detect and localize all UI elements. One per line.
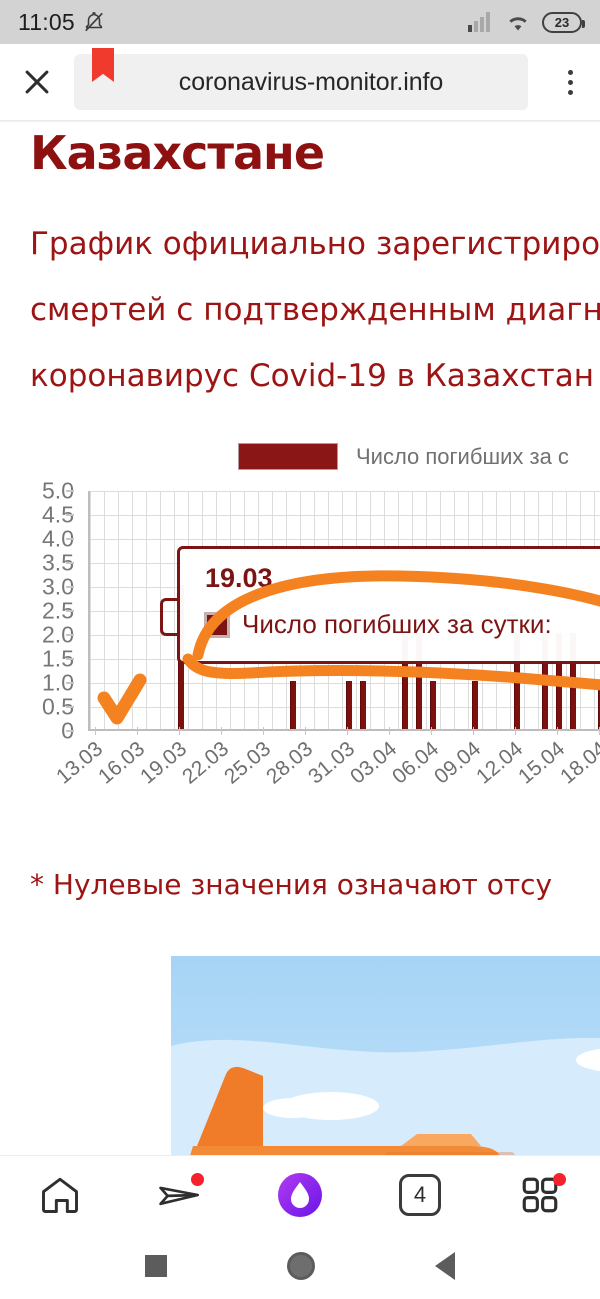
- y-tick-mark: [66, 586, 74, 588]
- x-tick-mark: [515, 727, 516, 735]
- status-bar-left: 11:05: [18, 9, 105, 36]
- x-tick-mark: [473, 727, 474, 735]
- page-paragraph: График официально зарегистриро смертей с…: [30, 211, 600, 409]
- y-tick-mark: [66, 538, 74, 540]
- home-circle-icon[interactable]: [287, 1252, 315, 1280]
- x-tick-label: 03.04: [346, 737, 402, 789]
- y-tick-mark: [66, 562, 74, 564]
- status-bar: 11:05: [0, 0, 600, 44]
- y-tick-mark: [66, 658, 74, 660]
- tab-switcher-icon: 4: [399, 1174, 441, 1216]
- paragraph-line-1: График официально зарегистриро: [30, 211, 600, 277]
- screen-root: 11:05: [0, 0, 600, 1299]
- web-page-content: Казахстане График официально зарегистрир…: [0, 123, 600, 1143]
- tooltip-date: 19.03: [205, 563, 273, 594]
- battery-indicator: 23: [542, 12, 582, 33]
- x-tick-label: 18.04: [556, 737, 600, 789]
- x-tick-label: 15.04: [514, 737, 570, 789]
- tab-count-label: 4: [414, 1182, 426, 1208]
- y-tick-mark: [66, 610, 74, 612]
- chart-x-axis: 13.0316.0319.0322.0325.0328.0331.0303.04…: [88, 735, 600, 835]
- cellular-signal-icon: [468, 12, 494, 32]
- status-clock: 11:05: [18, 9, 75, 36]
- nav-assistant-button[interactable]: [260, 1165, 340, 1225]
- tooltip-series-label: Число погибших за сутки:: [242, 609, 552, 640]
- x-tick-mark: [221, 727, 222, 735]
- share-badge: [191, 1173, 204, 1186]
- nav-share-button[interactable]: [140, 1165, 220, 1225]
- y-tick-mark: [66, 514, 74, 516]
- x-tick-label: 25.03: [220, 737, 276, 789]
- ad-banner[interactable]: [171, 956, 600, 1186]
- nav-home-button[interactable]: [20, 1165, 100, 1225]
- legend-label: Число погибших за с: [356, 444, 569, 470]
- tooltip-swatch-icon: [204, 612, 230, 638]
- wifi-icon: [505, 12, 531, 32]
- x-tick-mark: [557, 727, 558, 735]
- home-icon: [38, 1173, 82, 1217]
- chart-bar[interactable]: [430, 681, 436, 729]
- chart-bar[interactable]: [472, 681, 478, 729]
- x-tick-mark: [95, 727, 96, 735]
- alice-assistant-icon: [273, 1168, 327, 1222]
- chart-tooltip: 19.03 Число погибших за сутки:: [177, 546, 600, 664]
- x-tick-label: 22.03: [178, 737, 234, 789]
- nav-apps-button[interactable]: [500, 1165, 580, 1225]
- x-tick-mark: [347, 727, 348, 735]
- page-title: Казахстане: [30, 126, 324, 180]
- x-tick-mark: [263, 727, 264, 735]
- x-tick-label: 16.03: [94, 737, 150, 789]
- tooltip-series-row: Число погибших за сутки:: [204, 609, 552, 640]
- x-tick-mark: [179, 727, 180, 735]
- paragraph-line-3: коронавирус Covid-19 в Казахстан: [30, 343, 600, 409]
- bell-muted-icon: [83, 11, 105, 33]
- close-tab-button[interactable]: [0, 65, 74, 99]
- page-footnote: * Нулевые значения означают отсу: [30, 868, 600, 901]
- chart-bar[interactable]: [346, 681, 352, 729]
- overflow-menu-button[interactable]: [540, 70, 600, 95]
- x-tick-mark: [137, 727, 138, 735]
- legend-swatch: [238, 443, 338, 470]
- paragraph-line-2: смертей с подтвержденным диагн: [30, 277, 600, 343]
- chart-bar[interactable]: [360, 681, 366, 729]
- x-tick-label: 28.03: [262, 737, 318, 789]
- y-tick-mark: [66, 730, 74, 732]
- browser-toolbar: coronavirus-monitor.info: [0, 44, 600, 120]
- recents-square-icon[interactable]: [145, 1255, 167, 1277]
- back-triangle-icon[interactable]: [435, 1252, 455, 1280]
- x-tick-mark: [431, 727, 432, 735]
- y-tick-mark: [66, 634, 74, 636]
- url-text: coronavirus-monitor.info: [74, 68, 528, 97]
- y-tick-mark: [66, 490, 74, 492]
- overflow-menu-icon: [568, 70, 573, 95]
- x-tick-label: 12.04: [472, 737, 528, 789]
- deaths-bar-chart[interactable]: Число погибших за с 00.51.01.52.02.53.03…: [0, 443, 600, 843]
- status-bar-right: 23: [468, 12, 582, 33]
- y-tick-mark: [66, 706, 74, 708]
- chart-legend: Число погибших за с: [238, 443, 569, 470]
- address-bar[interactable]: coronavirus-monitor.info: [74, 54, 528, 110]
- y-tick-mark: [66, 682, 74, 684]
- airplane-ad-illustration: [171, 956, 600, 1186]
- x-tick-mark: [305, 727, 306, 735]
- chart-bar[interactable]: [290, 681, 296, 729]
- nav-tabs-button[interactable]: 4: [380, 1165, 460, 1225]
- x-tick-label: 06.04: [388, 737, 444, 789]
- chart-y-axis: 00.51.01.52.02.53.03.54.04.55.0: [0, 491, 82, 735]
- apps-badge: [553, 1173, 566, 1186]
- browser-bottom-nav: 4: [0, 1155, 600, 1233]
- x-tick-label: 09.04: [430, 737, 486, 789]
- x-tick-label: 31.03: [304, 737, 360, 789]
- x-tick-mark: [389, 727, 390, 735]
- android-system-nav: [0, 1233, 600, 1299]
- battery-level: 23: [555, 16, 569, 29]
- x-tick-label: 13.03: [52, 737, 108, 789]
- x-tick-label: 19.03: [136, 737, 192, 789]
